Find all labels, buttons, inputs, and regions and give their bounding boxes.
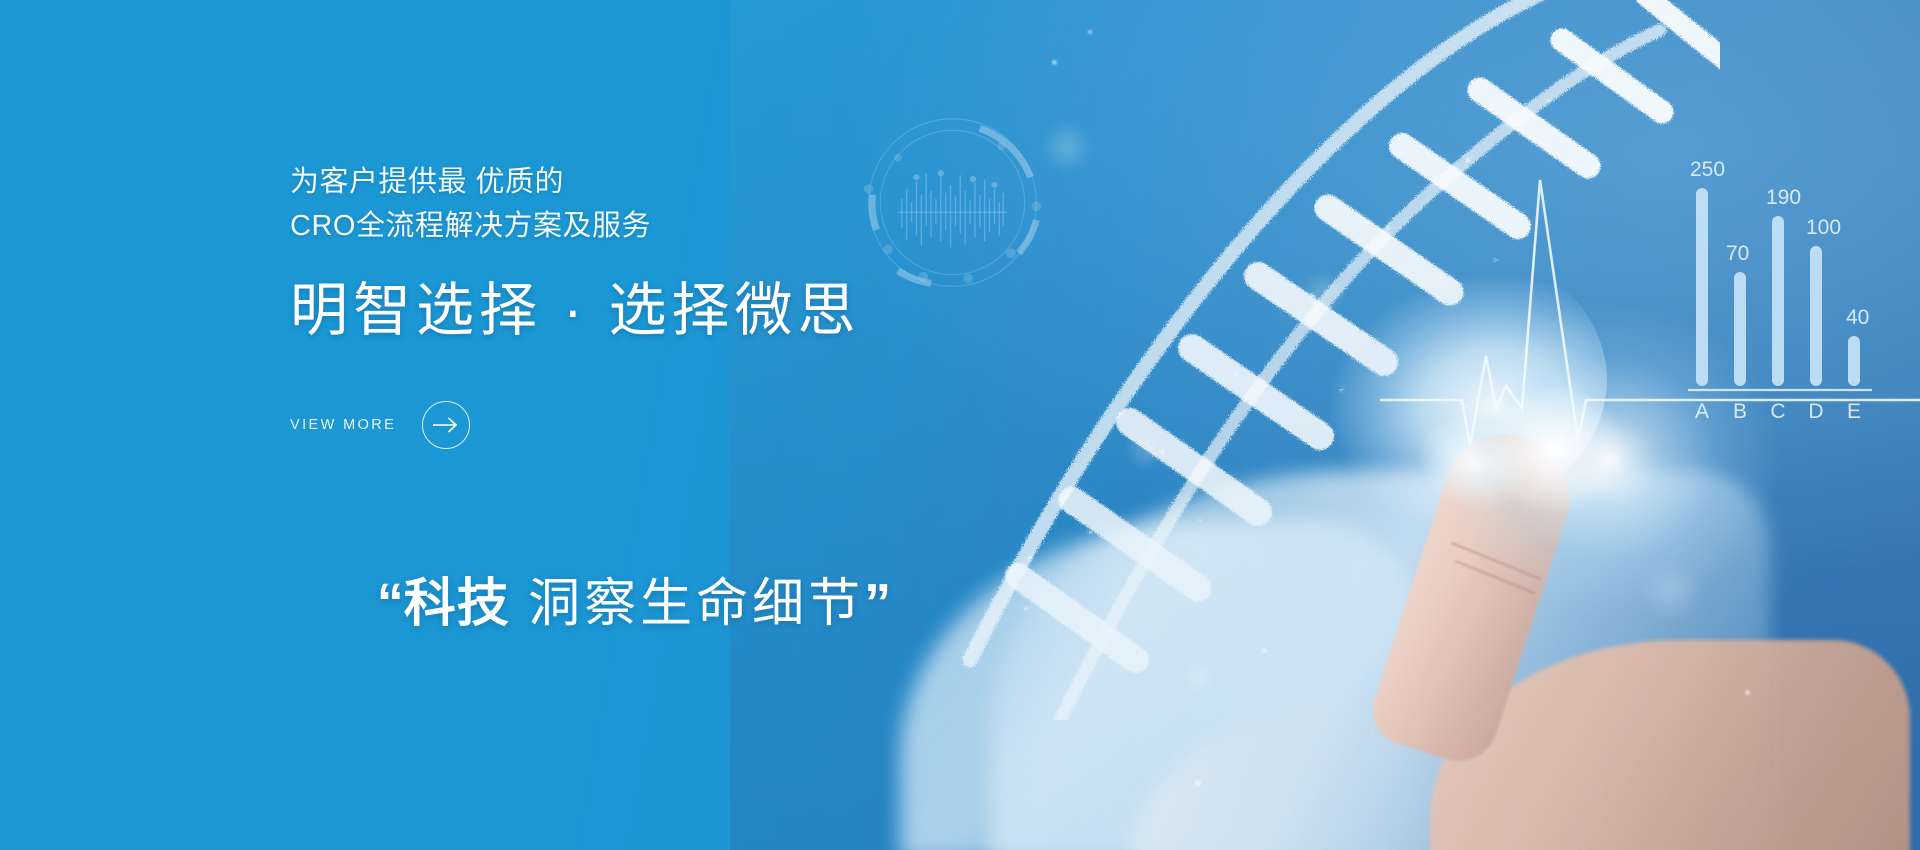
hero-banner: 250 70 190 100 40 A B C D E	[0, 0, 1920, 850]
spark-dot	[1262, 648, 1267, 653]
hero-copy: 为客户提供最 优质的 CRO全流程解决方案及服务 明智选择 · 选择微思 VIE…	[290, 160, 1110, 697]
bar-category-a: A	[1695, 400, 1709, 423]
bar-category-c: C	[1770, 400, 1785, 423]
quote-close-mark: ”	[864, 573, 891, 633]
bar-value-e: 40	[1846, 306, 1869, 329]
quote-light-text: 洞察生命细节	[510, 575, 864, 633]
bar-value-a: 250	[1690, 158, 1725, 181]
subheadline-line-2: CRO全流程解决方案及服务	[290, 204, 1110, 248]
page-title: 明智选择 · 选择微思	[290, 276, 1110, 346]
bar-category-e: E	[1847, 400, 1861, 423]
view-more-label: VIEW MORE	[290, 417, 396, 433]
bar-value-d: 100	[1806, 216, 1841, 239]
bokeh-dot	[1125, 430, 1165, 470]
data-visualization-overlay: 250 70 190 100 40 A B C D E	[1500, 150, 1920, 480]
bar-category-b: B	[1733, 400, 1747, 423]
spark-dot	[1745, 690, 1750, 695]
bokeh-dot	[1300, 270, 1346, 316]
subheadline: 为客户提供最 优质的 CRO全流程解决方案及服务	[290, 160, 1110, 248]
bokeh-dot	[1640, 560, 1702, 622]
bar-value-b: 70	[1726, 242, 1749, 265]
arrow-right-icon[interactable]	[422, 401, 470, 449]
spark-dot	[1195, 780, 1201, 786]
view-more-button[interactable]: VIEW MORE	[290, 401, 470, 449]
bar-category-d: D	[1808, 400, 1823, 423]
tagline-quote: “科技 洞察生命细节”	[290, 511, 1110, 697]
bar-value-c: 190	[1766, 186, 1801, 209]
quote-open-mark: “	[377, 573, 404, 633]
spark-dot	[1052, 60, 1057, 65]
bokeh-dot	[1180, 660, 1216, 696]
bar-chart: 250 70 190 100 40 A B C D E	[1688, 158, 1872, 423]
quote-strong-text: 科技	[404, 575, 510, 633]
spark-dot	[1088, 30, 1092, 34]
subheadline-line-1: 为客户提供最 优质的	[290, 160, 1110, 204]
